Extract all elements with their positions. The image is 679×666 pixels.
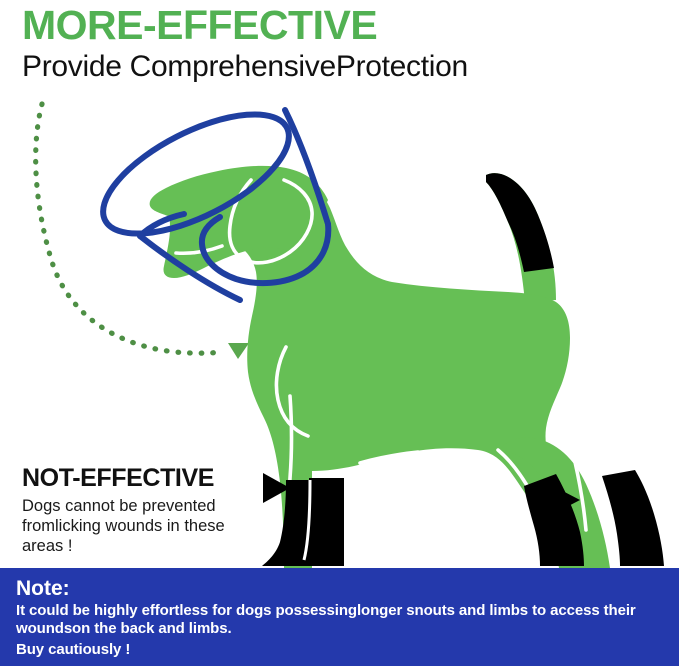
dog-illustration	[0, 0, 679, 666]
not-effective-body-line-1: Dogs cannot be prevented	[22, 496, 272, 516]
header-block: MORE-EFFECTIVE Provide ComprehensiveProt…	[22, 2, 662, 86]
rear-boots	[524, 470, 664, 566]
note-label: Note:	[16, 577, 665, 601]
note-line-3: Buy cautiously !	[16, 641, 665, 659]
page-title: MORE-EFFECTIVE	[22, 2, 662, 48]
not-effective-title: NOT-EFFECTIVE	[22, 464, 272, 493]
page-subtitle: Provide ComprehensiveProtection	[22, 48, 662, 86]
note-line-2: woundson the back and limbs.	[16, 620, 665, 638]
note-bar: Note: It could be highly effortless for …	[0, 568, 679, 666]
dotted-arrow-head	[228, 343, 249, 359]
not-effective-body-line-2: fromlicking wounds in these	[22, 516, 272, 536]
protective-cone	[86, 90, 328, 300]
front-boots	[262, 478, 344, 566]
rear-leg-arrow-marker	[555, 487, 580, 513]
note-line-1: It could be highly effortless for dogs p…	[16, 602, 665, 620]
dotted-arrow-to-cone	[36, 104, 249, 359]
not-effective-block: NOT-EFFECTIVE Dogs cannot be prevented f…	[22, 464, 272, 556]
not-effective-body-line-3: areas !	[22, 536, 272, 556]
not-effective-body: Dogs cannot be prevented fromlicking wou…	[22, 496, 272, 556]
tail-black-tip	[486, 173, 554, 272]
infographic-root: MORE-EFFECTIVE Provide ComprehensiveProt…	[0, 0, 679, 666]
